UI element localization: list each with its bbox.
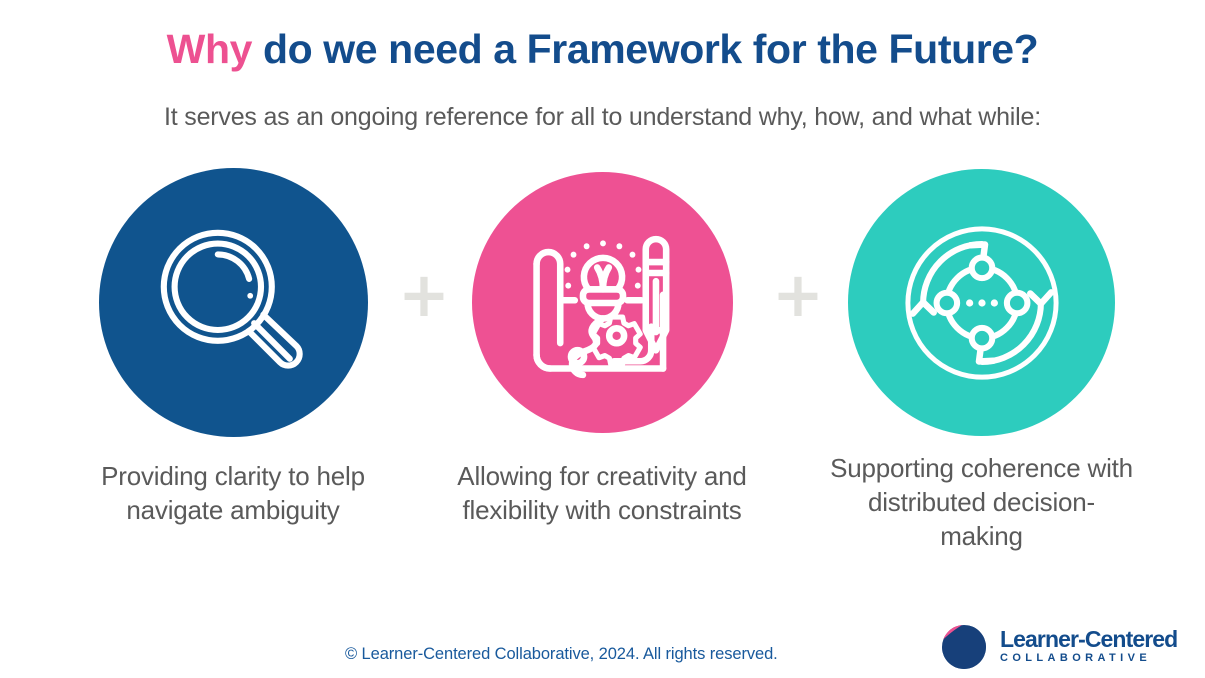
magnifying-glass-icon (144, 213, 324, 393)
brand-logo: Learner-Centered COLLABORATIVE (938, 620, 1193, 674)
plus-separator-1: + (398, 264, 450, 326)
pillar-icon-circle-creativity (472, 172, 733, 433)
page-title: Why do we need a Framework for the Futur… (0, 26, 1205, 73)
pillar-icon-circle-clarity (99, 168, 368, 437)
blueprint-lightbulb-pencil-gear-icon (512, 212, 694, 394)
logo-tagline: COLLABORATIVE (1000, 652, 1177, 666)
page-subtitle: It serves as an ongoing reference for al… (0, 103, 1205, 132)
page-title-accent: Why (167, 26, 252, 72)
pillar-caption-coherence: Supporting coherence with distributed de… (830, 452, 1133, 553)
logo-name: Learner-Centered (1000, 628, 1177, 651)
pillar-icon-circle-coherence (848, 169, 1115, 436)
logo-wordmark: Learner-Centered COLLABORATIVE (1000, 628, 1177, 665)
pillars-row: + (0, 160, 1205, 450)
plus-separator-2: + (772, 264, 824, 326)
pillar-caption-creativity: Allowing for creativity and flexibility … (452, 460, 752, 528)
logo-sphere-icon (938, 621, 990, 673)
copyright-text: © Learner-Centered Collaborative, 2024. … (345, 645, 778, 664)
circular-arrows-network-icon (887, 208, 1077, 398)
pillar-caption-clarity: Providing clarity to help navigate ambig… (78, 460, 388, 528)
page-title-rest: do we need a Framework for the Future? (252, 26, 1038, 72)
